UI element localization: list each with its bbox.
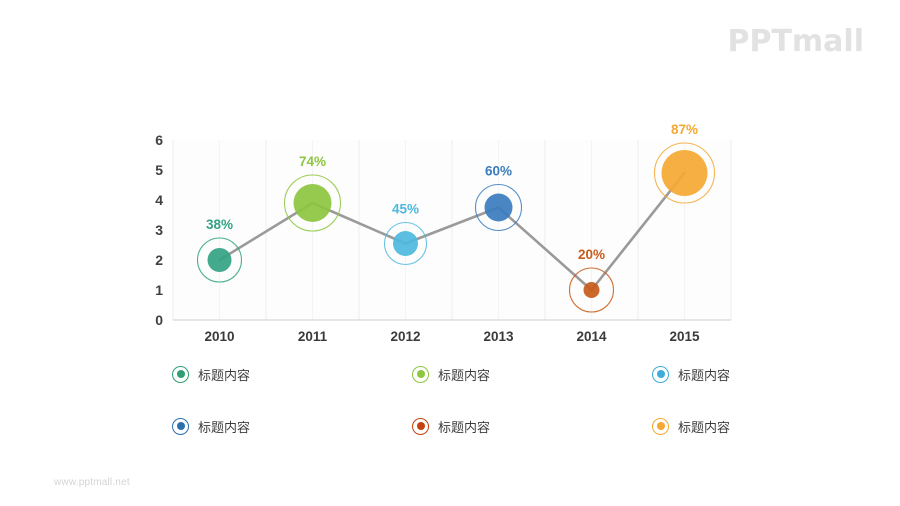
x-axis-tick-label: 2013 — [483, 329, 514, 344]
data-point-marker[interactable] — [208, 248, 232, 272]
data-point-value-label: 74% — [299, 154, 326, 169]
x-axis-tick-label: 2012 — [390, 329, 420, 344]
legend-item-label: 标题内容 — [438, 417, 490, 436]
data-point-value-label: 20% — [578, 247, 605, 262]
legend-item[interactable]: 标题内容 — [172, 362, 412, 386]
y-axis-tick-label: 5 — [155, 162, 163, 178]
legend-marker-icon — [412, 366, 429, 383]
legend-item-label: 标题内容 — [678, 417, 730, 436]
legend-item[interactable]: 标题内容 — [172, 414, 412, 438]
x-axis-tick-label: 2011 — [298, 329, 328, 344]
data-point-marker[interactable] — [485, 194, 513, 222]
legend-item-label: 标题内容 — [198, 417, 250, 436]
y-axis-tick-label: 1 — [155, 282, 163, 298]
legend-item-label: 标题内容 — [678, 365, 730, 384]
data-point-value-label: 60% — [485, 164, 512, 179]
y-axis-tick-label: 3 — [155, 222, 163, 238]
legend-marker-icon — [172, 366, 189, 383]
x-axis-tick-label: 2014 — [576, 329, 607, 344]
footer-url: www.pptmall.net — [54, 477, 130, 488]
legend-marker-icon — [652, 366, 669, 383]
data-point-marker[interactable] — [393, 231, 418, 256]
legend-item[interactable]: 标题内容 — [412, 362, 652, 386]
legend-item-label: 标题内容 — [198, 365, 250, 384]
y-axis-tick-label: 0 — [155, 312, 163, 328]
data-point-value-label: 87% — [671, 122, 698, 137]
x-axis-tick-label: 2015 — [669, 329, 700, 344]
data-point-marker[interactable] — [662, 150, 708, 196]
legend-item[interactable]: 标题内容 — [412, 414, 652, 438]
y-axis-tick-label: 4 — [155, 192, 163, 208]
chart-legend: 标题内容标题内容标题内容标题内容标题内容标题内容 — [172, 362, 792, 466]
data-point-value-label: 45% — [392, 202, 419, 217]
legend-item-label: 标题内容 — [438, 365, 490, 384]
data-point-marker[interactable] — [294, 184, 332, 222]
y-axis-tick-label: 6 — [155, 132, 163, 148]
x-axis-tick-label: 2010 — [204, 329, 234, 344]
legend-marker-icon — [412, 418, 429, 435]
legend-item[interactable]: 标题内容 — [652, 414, 792, 438]
data-point-marker[interactable] — [584, 282, 600, 298]
legend-item[interactable]: 标题内容 — [652, 362, 792, 386]
y-axis-tick-label: 2 — [155, 252, 163, 268]
data-point-value-label: 38% — [206, 217, 233, 232]
legend-marker-icon — [172, 418, 189, 435]
legend-marker-icon — [652, 418, 669, 435]
